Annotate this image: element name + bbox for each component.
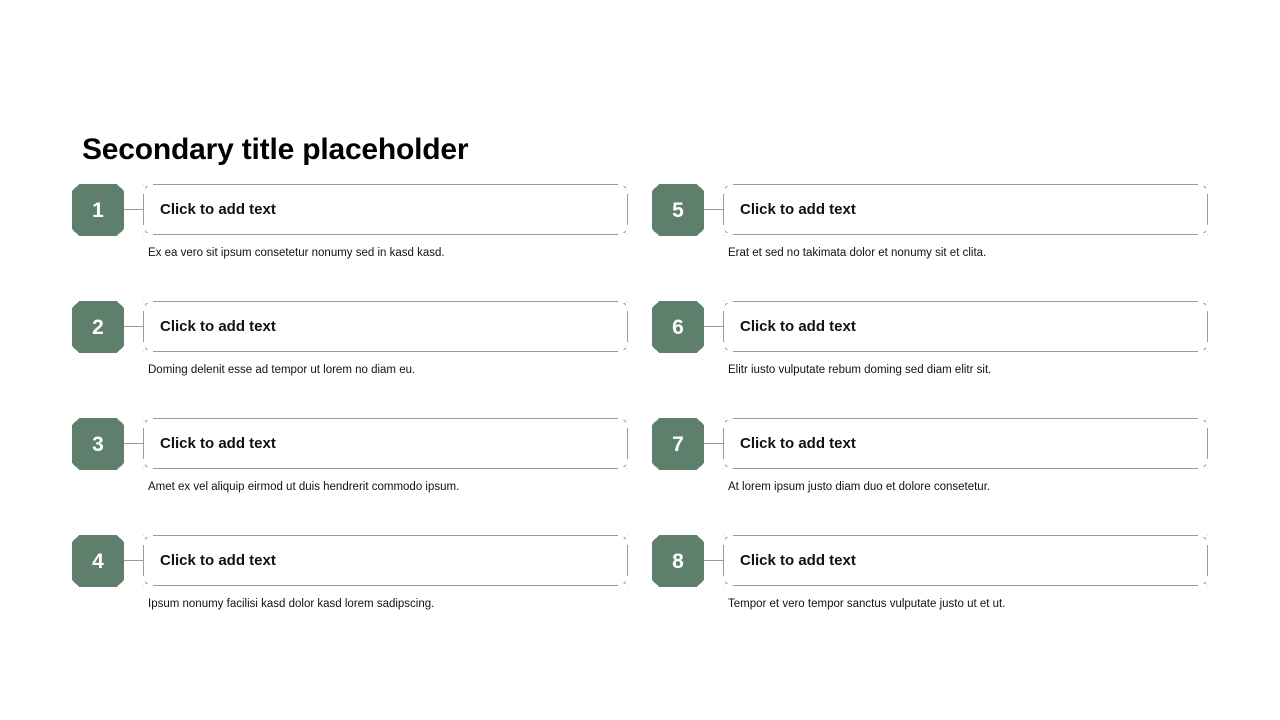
corner-mask: [626, 185, 628, 194]
corner-mask: [724, 535, 733, 537]
corner-mask: [144, 184, 153, 186]
item-number-badge[interactable]: 7: [652, 418, 704, 470]
item-heading[interactable]: Click to add text: [160, 185, 276, 234]
corner-mask: [144, 233, 153, 235]
item-heading[interactable]: Click to add text: [160, 419, 276, 468]
item-text-box[interactable]: Click to add text: [723, 301, 1208, 352]
item-number-badge[interactable]: 2: [72, 301, 124, 353]
list-item[interactable]: 1 Click to add text Ex ea vero sit ipsum…: [72, 184, 628, 284]
corner-mask: [626, 419, 628, 428]
connector-line: [704, 326, 724, 327]
list-item[interactable]: 4 Click to add text Ipsum nonumy facilis…: [72, 535, 628, 635]
corner-mask: [626, 576, 628, 585]
item-description[interactable]: At lorem ipsum justo diam duo et dolore …: [728, 479, 990, 495]
corner-mask: [144, 350, 153, 352]
corner-mask: [1206, 185, 1208, 194]
item-text-box[interactable]: Click to add text: [723, 418, 1208, 469]
item-description[interactable]: Erat et sed no takimata dolor et nonumy …: [728, 245, 986, 261]
item-number-badge[interactable]: 8: [652, 535, 704, 587]
list-item[interactable]: 3 Click to add text Amet ex vel aliquip …: [72, 418, 628, 518]
item-number-badge[interactable]: 4: [72, 535, 124, 587]
item-heading[interactable]: Click to add text: [740, 185, 856, 234]
connector-line: [124, 209, 144, 210]
corner-mask: [626, 302, 628, 311]
item-text-box[interactable]: Click to add text: [723, 535, 1208, 586]
connector-line: [124, 560, 144, 561]
connector-line: [704, 209, 724, 210]
item-heading[interactable]: Click to add text: [160, 302, 276, 351]
corner-mask: [723, 342, 725, 351]
item-heading[interactable]: Click to add text: [740, 419, 856, 468]
item-description[interactable]: Doming delenit esse ad tempor ut lorem n…: [148, 362, 415, 378]
corner-mask: [143, 225, 145, 234]
corner-mask: [626, 225, 628, 234]
corner-mask: [723, 225, 725, 234]
corner-mask: [724, 467, 733, 469]
slide-canvas: Secondary title placeholder 1 Click to a…: [0, 0, 1280, 720]
corner-mask: [724, 418, 733, 420]
corner-mask: [724, 584, 733, 586]
corner-mask: [626, 459, 628, 468]
corner-mask: [143, 576, 145, 585]
list-item[interactable]: 2 Click to add text Doming delenit esse …: [72, 301, 628, 401]
corner-mask: [724, 233, 733, 235]
list-item[interactable]: 7 Click to add text At lorem ipsum justo…: [652, 418, 1208, 518]
list-item[interactable]: 6 Click to add text Elitr iusto vulputat…: [652, 301, 1208, 401]
item-heading[interactable]: Click to add text: [160, 536, 276, 585]
item-description[interactable]: Tempor et vero tempor sanctus vulputate …: [728, 596, 1005, 612]
corner-mask: [1206, 419, 1208, 428]
item-text-box[interactable]: Click to add text: [143, 184, 628, 235]
corner-mask: [723, 576, 725, 585]
corner-mask: [143, 459, 145, 468]
corner-mask: [143, 342, 145, 351]
connector-line: [704, 560, 724, 561]
corner-mask: [724, 350, 733, 352]
item-heading[interactable]: Click to add text: [740, 536, 856, 585]
corner-mask: [144, 584, 153, 586]
item-description[interactable]: Elitr iusto vulputate rebum doming sed d…: [728, 362, 991, 378]
corner-mask: [144, 535, 153, 537]
page-title: Secondary title placeholder: [82, 131, 468, 169]
connector-line: [124, 326, 144, 327]
item-description[interactable]: Amet ex vel aliquip eirmod ut duis hendr…: [148, 479, 459, 495]
list-item[interactable]: 5 Click to add text Erat et sed no takim…: [652, 184, 1208, 284]
item-number-badge[interactable]: 6: [652, 301, 704, 353]
corner-mask: [144, 301, 153, 303]
item-number-badge[interactable]: 1: [72, 184, 124, 236]
corner-mask: [626, 536, 628, 545]
corner-mask: [723, 185, 725, 194]
corner-mask: [1206, 576, 1208, 585]
corner-mask: [144, 467, 153, 469]
corner-mask: [723, 302, 725, 311]
corner-mask: [143, 419, 145, 428]
item-text-box[interactable]: Click to add text: [723, 184, 1208, 235]
corner-mask: [626, 342, 628, 351]
list-item[interactable]: 8 Click to add text Tempor et vero tempo…: [652, 535, 1208, 635]
item-description[interactable]: Ipsum nonumy facilisi kasd dolor kasd lo…: [148, 596, 434, 612]
corner-mask: [1206, 225, 1208, 234]
corner-mask: [1206, 302, 1208, 311]
corner-mask: [1206, 459, 1208, 468]
corner-mask: [724, 184, 733, 186]
corner-mask: [143, 302, 145, 311]
corner-mask: [144, 418, 153, 420]
connector-line: [704, 443, 724, 444]
corner-mask: [723, 419, 725, 428]
item-number-badge[interactable]: 5: [652, 184, 704, 236]
item-number-badge[interactable]: 3: [72, 418, 124, 470]
corner-mask: [143, 536, 145, 545]
corner-mask: [1206, 536, 1208, 545]
item-heading[interactable]: Click to add text: [740, 302, 856, 351]
item-text-box[interactable]: Click to add text: [143, 418, 628, 469]
corner-mask: [1206, 342, 1208, 351]
corner-mask: [723, 459, 725, 468]
corner-mask: [723, 536, 725, 545]
item-text-box[interactable]: Click to add text: [143, 535, 628, 586]
corner-mask: [143, 185, 145, 194]
connector-line: [124, 443, 144, 444]
item-text-box[interactable]: Click to add text: [143, 301, 628, 352]
item-description[interactable]: Ex ea vero sit ipsum consetetur nonumy s…: [148, 245, 445, 261]
corner-mask: [724, 301, 733, 303]
